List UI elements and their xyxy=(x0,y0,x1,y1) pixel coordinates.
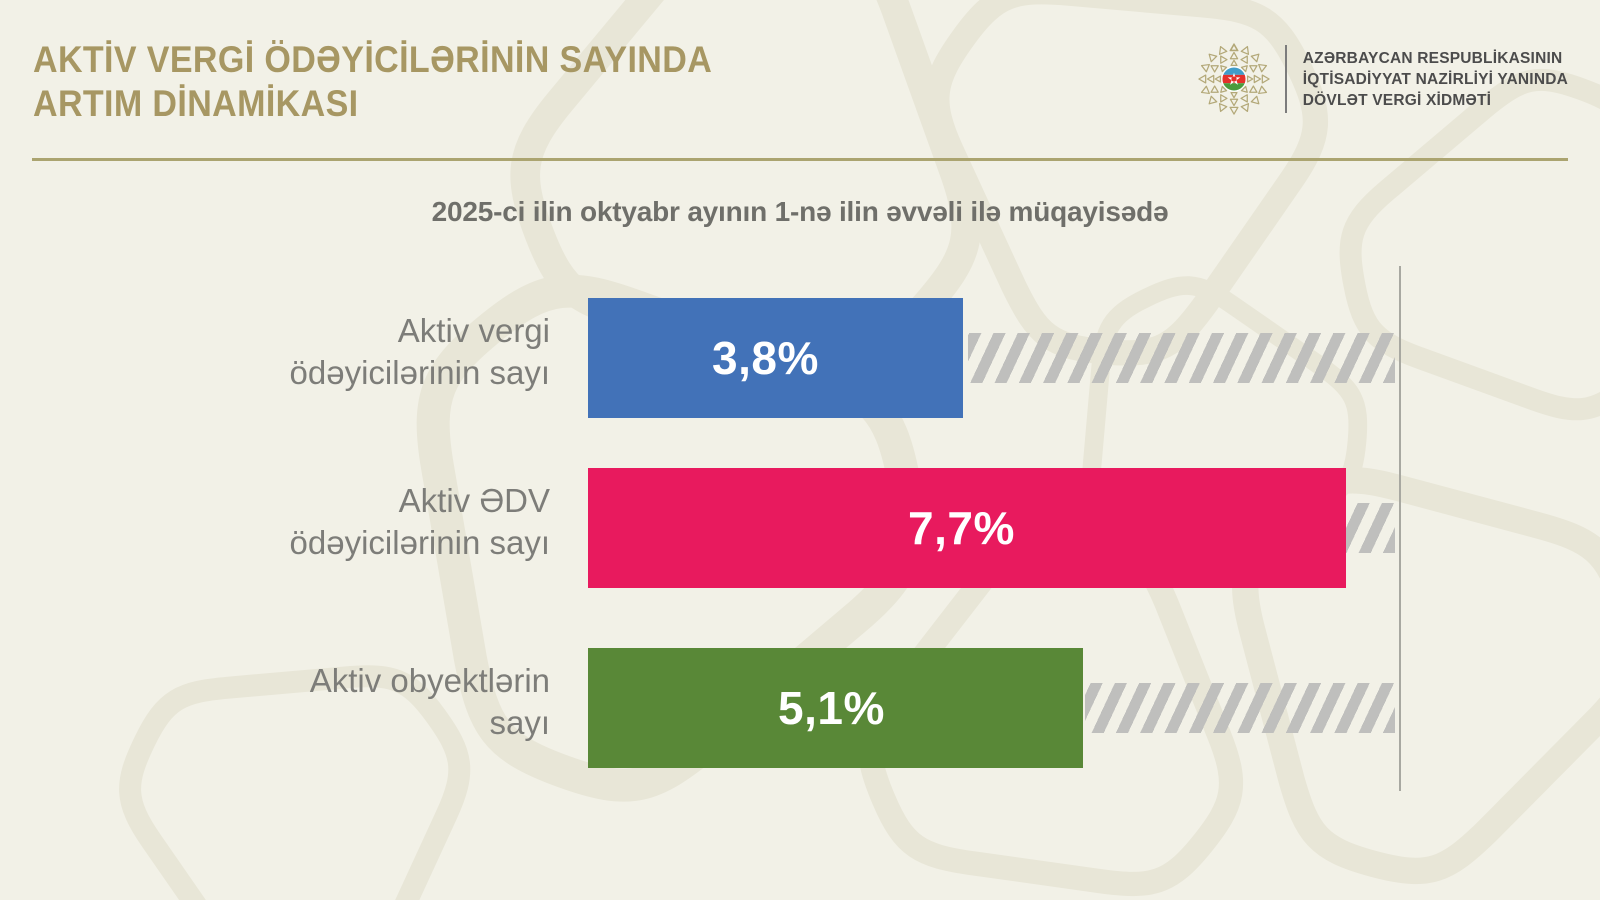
organization-name-line-1: AZƏRBAYCAN RESPUBLİKASININ xyxy=(1303,48,1568,69)
page-header: AKTİV VERGİ ÖDƏYİCİLƏRİNİN SAYINDA ARTIM… xyxy=(0,0,1600,170)
chart-row: Aktiv ƏDV ödəyicilərinin sayı 7,7% xyxy=(0,468,1600,588)
chart-row: Aktiv obyektlərin sayı 5,1% xyxy=(0,648,1600,768)
bar-label: Aktiv obyektlərin sayı xyxy=(120,660,550,744)
bar-label-line-1: Aktiv vergi xyxy=(120,310,550,352)
bar-value-label: 7,7% xyxy=(908,468,1015,588)
page-title-line-1: AKTİV VERGİ ÖDƏYİCİLƏRİNİN SAYINDA xyxy=(33,38,712,82)
bar-remainder-hatch xyxy=(968,333,1395,383)
organization-name-line-3: DÖVLƏT VERGİ XİDMƏTİ xyxy=(1303,90,1568,111)
bar-value-label: 3,8% xyxy=(712,298,819,418)
bar-label: Aktiv vergi ödəyicilərinin sayı xyxy=(120,310,550,394)
bar-value-label: 5,1% xyxy=(778,648,885,768)
bar-chart: Aktiv vergi ödəyicilərinin sayı 3,8% Akt… xyxy=(0,258,1600,798)
bar-label-line-1: Aktiv ƏDV xyxy=(120,480,550,522)
chart-subtitle: 2025-ci ilin oktyabr ayının 1-nə ilin əv… xyxy=(0,196,1600,228)
bar-label: Aktiv ƏDV ödəyicilərinin sayı xyxy=(120,480,550,564)
bar-remainder-hatch xyxy=(1085,683,1395,733)
bar-label-line-2: ödəyicilərinin sayı xyxy=(120,352,550,394)
page-title-line-2: ARTIM DİNAMİKASI xyxy=(33,82,712,126)
page-title: AKTİV VERGİ ÖDƏYİCİLƏRİNİN SAYINDA ARTIM… xyxy=(33,38,771,126)
flag-roundel xyxy=(1221,67,1246,92)
bar-remainder-hatch xyxy=(1340,503,1395,553)
bar-label-line-1: Aktiv obyektlərin xyxy=(120,660,550,702)
bar-label-line-2: sayı xyxy=(120,702,550,744)
bar-label-line-2: ödəyicilərinin sayı xyxy=(120,522,550,564)
logo-divider xyxy=(1285,45,1287,113)
header-divider xyxy=(32,158,1568,161)
organization-logo: AZƏRBAYCAN RESPUBLİKASININ İQTİSADİYYAT … xyxy=(1195,40,1568,118)
organization-name: AZƏRBAYCAN RESPUBLİKASININ İQTİSADİYYAT … xyxy=(1303,48,1568,111)
organization-name-line-2: İQTİSADİYYAT NAZİRLİYİ YANINDA xyxy=(1303,69,1568,90)
azerbaijan-state-tax-service-emblem xyxy=(1195,40,1273,118)
chart-row: Aktiv vergi ödəyicilərinin sayı 3,8% xyxy=(0,298,1600,418)
